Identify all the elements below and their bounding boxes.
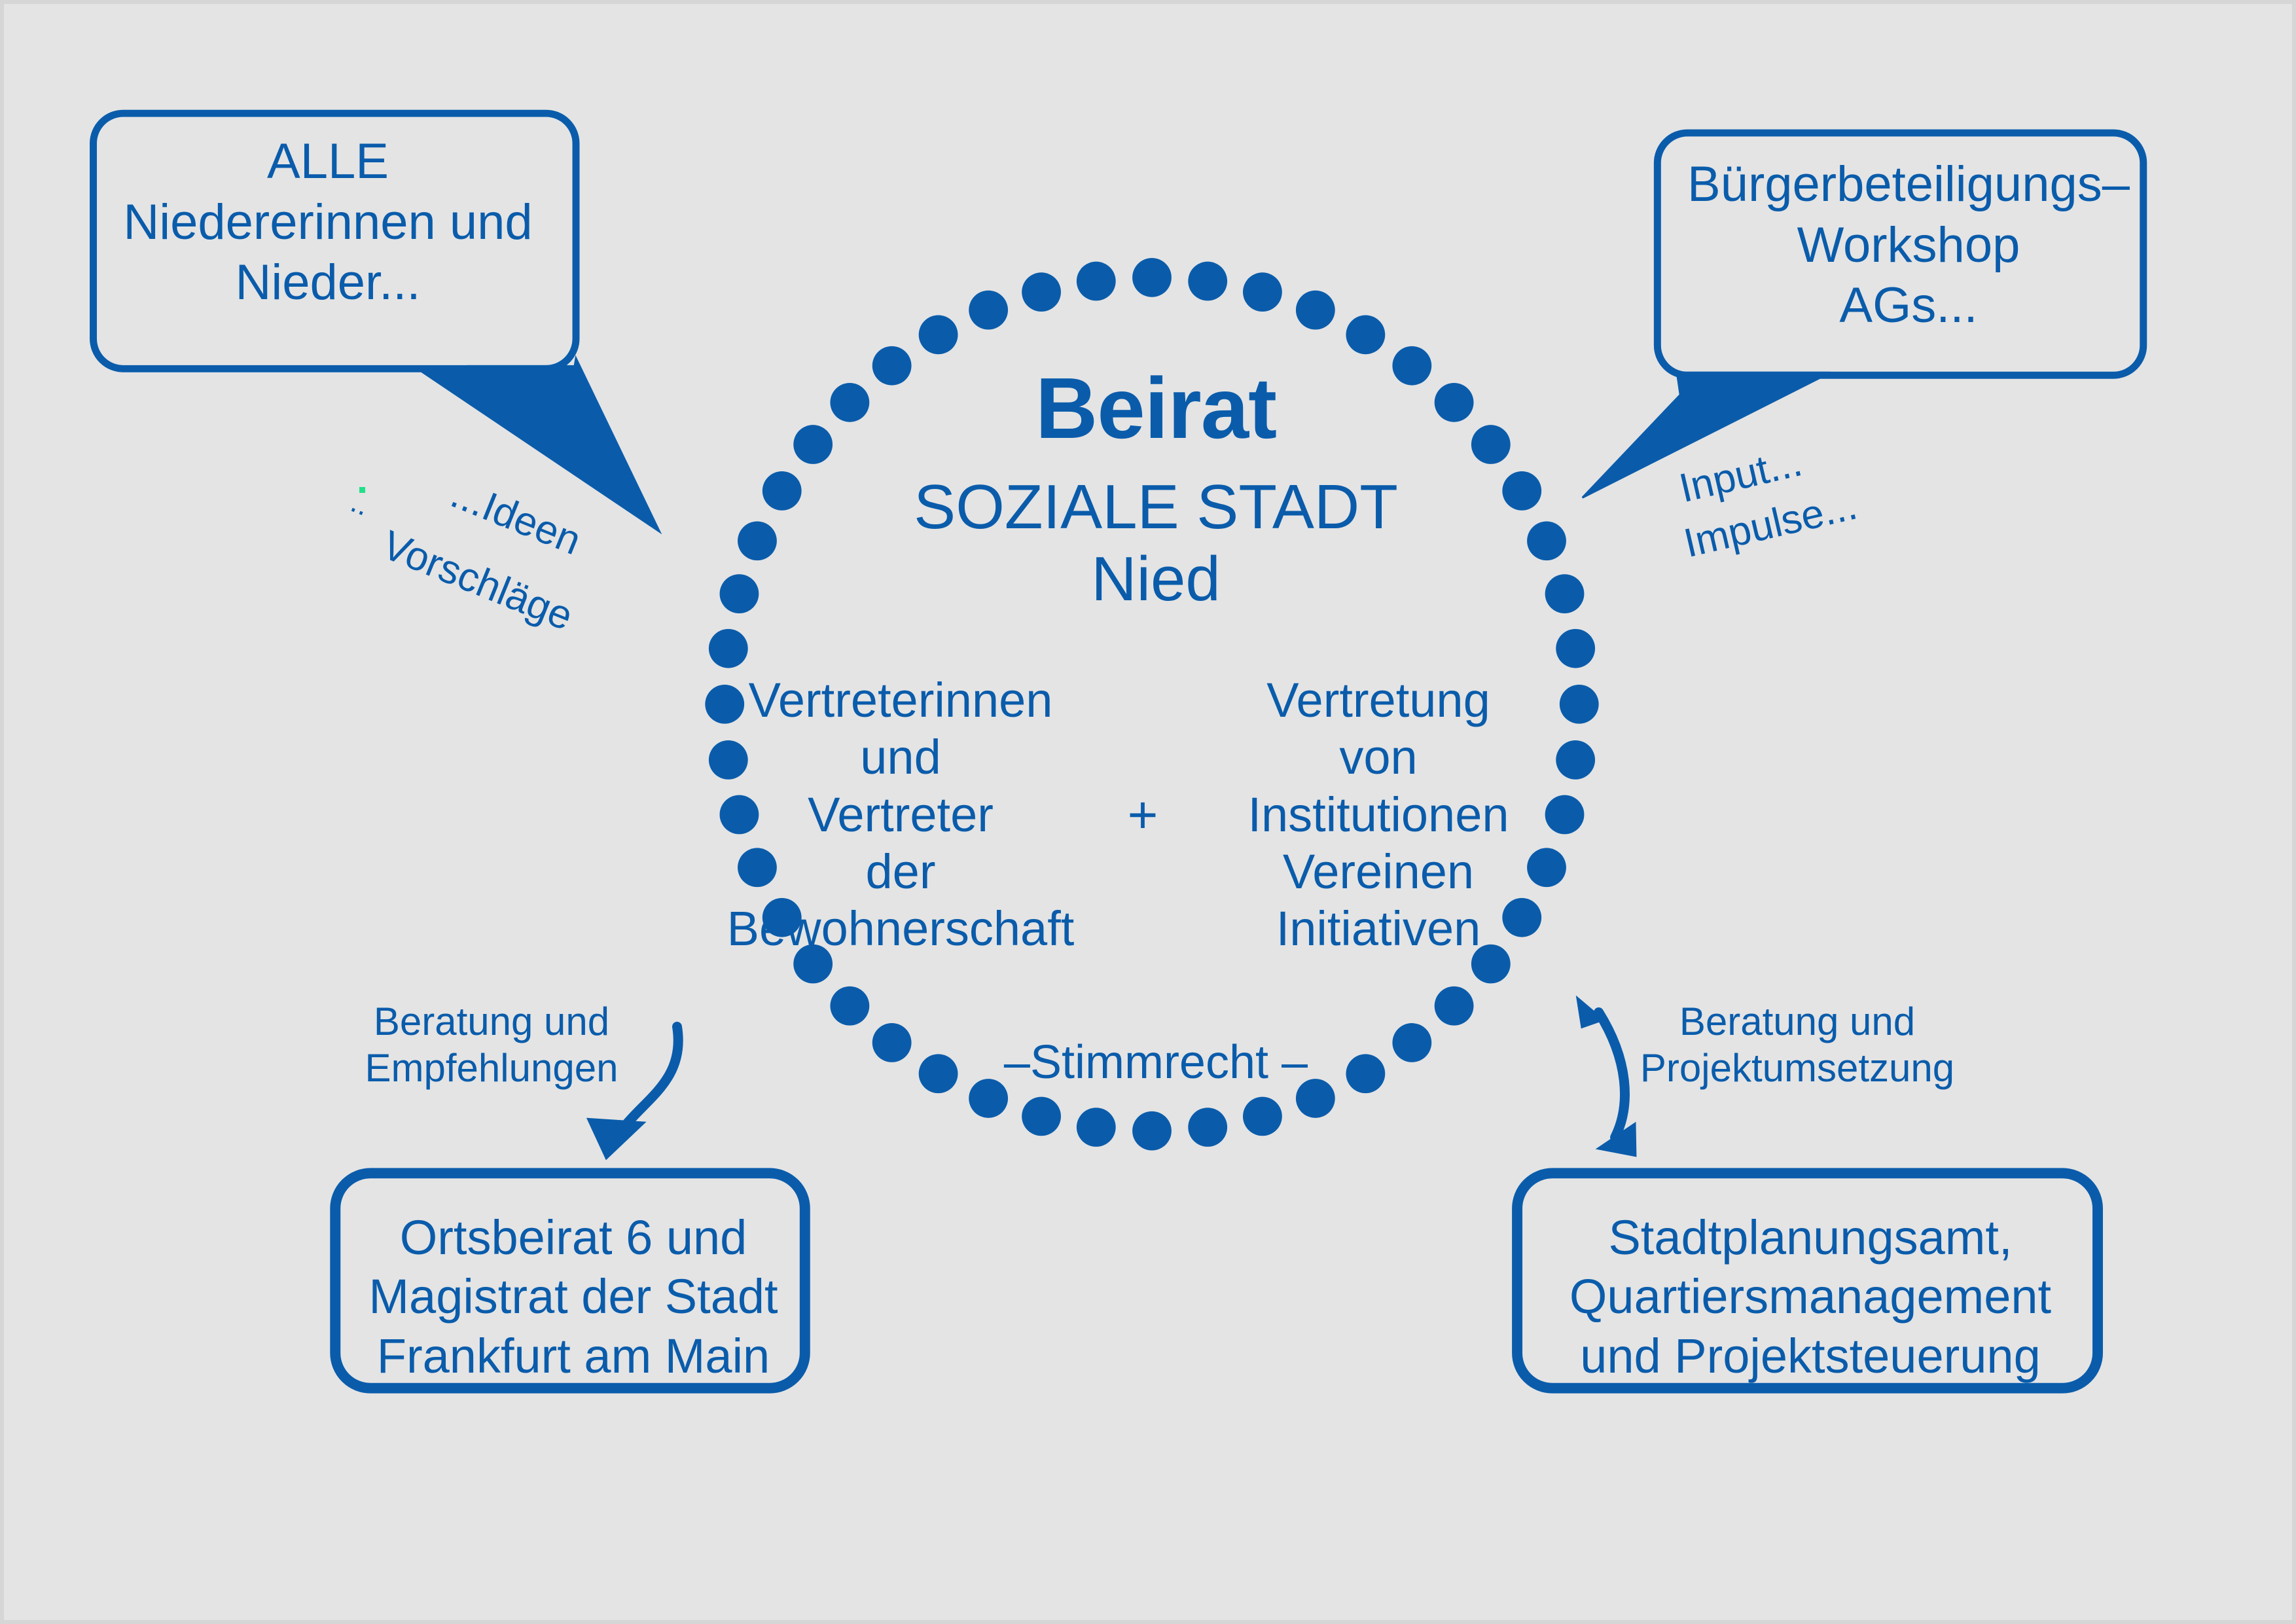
ring-dot [872, 1023, 912, 1062]
diagram-canvas: Beirat SOZIALE STADT Nied Vertreterinnen… [0, 0, 2296, 1624]
ring-dot [919, 315, 958, 354]
ring-dot [1435, 383, 1474, 422]
ring-dot [1188, 262, 1227, 301]
ring-dot [830, 986, 869, 1026]
ring-dot [709, 629, 748, 668]
ring-dot [830, 383, 869, 422]
subtitle-line-2: Nied [907, 542, 1405, 616]
ring-dot [1435, 986, 1474, 1026]
stimmrecht-note: –Stimmrecht – [907, 1035, 1405, 1091]
ring-dot [793, 425, 833, 464]
ring-dot [1502, 471, 1541, 511]
ring-dot [1471, 425, 1511, 464]
ring-dot [1527, 521, 1566, 560]
ring-dot [1132, 258, 1172, 297]
ring-dot [969, 291, 1008, 330]
ring-dot [1188, 1108, 1227, 1147]
ring-dot [1556, 629, 1595, 668]
ring-dot [1022, 272, 1061, 312]
arrow-head-left-down [586, 1118, 647, 1161]
subtitle-line-1: SOZIALE STADT [842, 470, 1470, 544]
circle-column-left: Vertreterinnen und Vertreter der Bewohne… [698, 672, 1103, 958]
circle-column-right: Vertretung von Institutionen Vereinen In… [1189, 672, 1568, 958]
box-label-stadtplanungsamt: Stadtplanungsamt, Quartiersmanagement un… [1529, 1208, 2092, 1386]
ring-dot [1545, 574, 1585, 613]
ring-dot [762, 471, 802, 511]
bubble-label-citizens: ALLE Niedererinnen und Nieder... [102, 132, 554, 314]
ring-dot [1243, 1097, 1282, 1136]
arrow-beratung-projektumsetzung [1576, 996, 1637, 1157]
arrow-shaft-right [1599, 1013, 1625, 1138]
ring-dot [738, 521, 777, 560]
bubble-label-participation: Bürgerbeteiligungs– Workshop AGs... [1679, 154, 2138, 336]
ring-dot [1243, 272, 1282, 312]
ring-dot [1346, 315, 1385, 354]
ring-dot [1077, 262, 1116, 301]
ring-dot [720, 574, 759, 613]
ring-dot [1077, 1108, 1116, 1147]
label-beratung-projektumsetzung: Beratung und Projektumsetzung [1634, 999, 1961, 1092]
box-label-ortsbeirat: Ortsbeirat 6 und Magistrat der Stadt Fra… [344, 1208, 802, 1386]
page-title: Beirat [907, 357, 1405, 460]
green-speck-artifact [359, 487, 365, 493]
ring-dot [1022, 1097, 1061, 1136]
label-beratung-empfehlungen: Beratung und Empfehlungen [351, 999, 632, 1092]
ring-dot [872, 346, 912, 386]
ring-dot [1296, 291, 1335, 330]
ring-dot [1132, 1111, 1172, 1151]
